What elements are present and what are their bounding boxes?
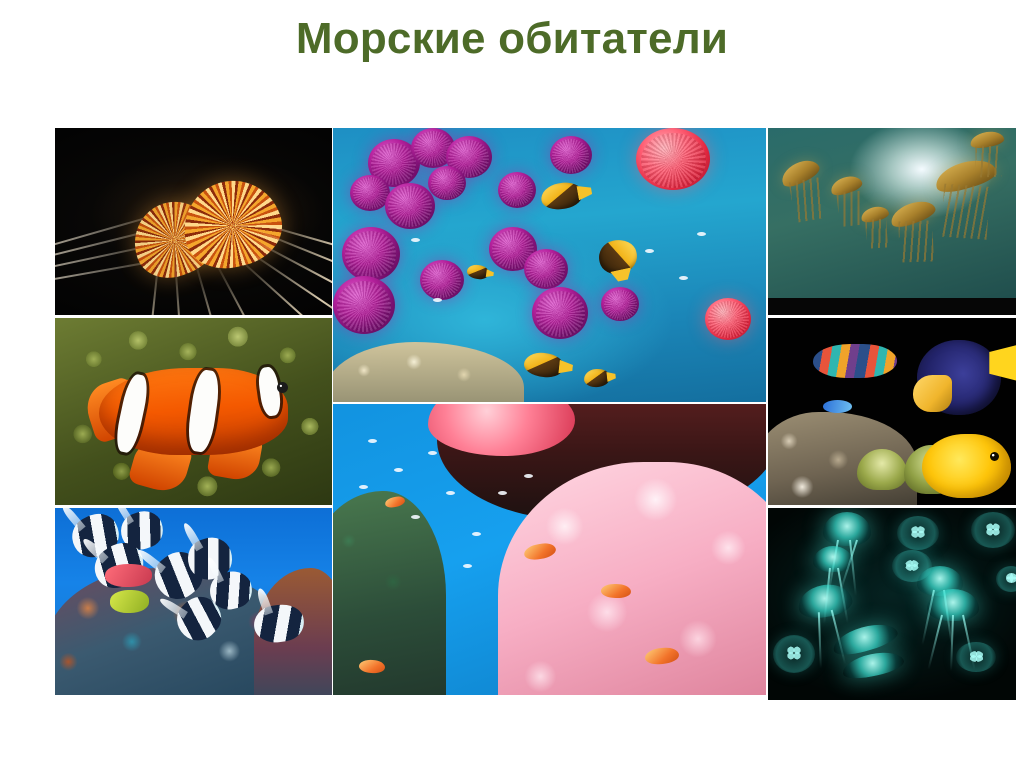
small-fish: [433, 298, 442, 302]
photo-moon-jellyfish: [768, 508, 1016, 700]
small-fish: [472, 532, 481, 536]
small-fish: [697, 232, 706, 236]
purple-jellyfish: [420, 260, 464, 300]
bannerfish: [252, 602, 307, 646]
moon-jellyfish: [773, 635, 815, 673]
small-fish: [463, 564, 472, 568]
photo-tropical-reef-fish: [768, 318, 1016, 505]
moon-jellyfish: [813, 546, 853, 572]
angelfish-face: [913, 375, 952, 412]
small-fish: [411, 238, 420, 242]
small-fish: [394, 468, 403, 472]
pink-jellyfish: [705, 298, 751, 340]
moon-jellyfish: [971, 512, 1015, 548]
yellow-tang: [922, 434, 1011, 498]
purple-jellyfish: [550, 136, 592, 174]
yellow-tang-eye: [990, 452, 999, 461]
purple-jellyfish: [524, 249, 568, 289]
golden-jellyfish: [969, 129, 1007, 161]
yellow-butterflyfish: [110, 590, 149, 612]
purple-jellyfish: [498, 172, 536, 208]
red-squirrelfish: [105, 564, 152, 586]
harlequin-tuskfish: [813, 344, 897, 378]
anemone: [857, 449, 907, 490]
moon-jellyfish: [996, 566, 1016, 592]
clownfish-eye: [277, 382, 288, 393]
photo-border-band: [768, 298, 1016, 315]
purple-jellyfish: [385, 183, 435, 229]
photo-pink-soft-coral: [333, 404, 766, 695]
moon-jellyfish: [823, 512, 871, 546]
small-fish: [368, 439, 377, 443]
small-fish: [524, 474, 533, 478]
purple-jellyfish: [342, 227, 400, 281]
small-fish: [645, 249, 654, 253]
photo-jellyfish-orange: [55, 128, 332, 315]
purple-jellyfish: [333, 276, 395, 334]
photo-bannerfish-reef: [55, 508, 332, 695]
photo-clownfish-anemone: [55, 318, 332, 505]
angelfish: [917, 340, 1001, 415]
photo-golden-jellyfish: [768, 128, 1016, 315]
pink-jellyfish: [636, 128, 710, 190]
small-fish: [411, 515, 420, 519]
photo-purple-jellyfish-bloom: [333, 128, 766, 402]
moon-jellyfish: [897, 516, 939, 550]
small-fish: [428, 451, 437, 455]
image-collage: [0, 0, 1024, 767]
purple-jellyfish: [532, 287, 588, 339]
